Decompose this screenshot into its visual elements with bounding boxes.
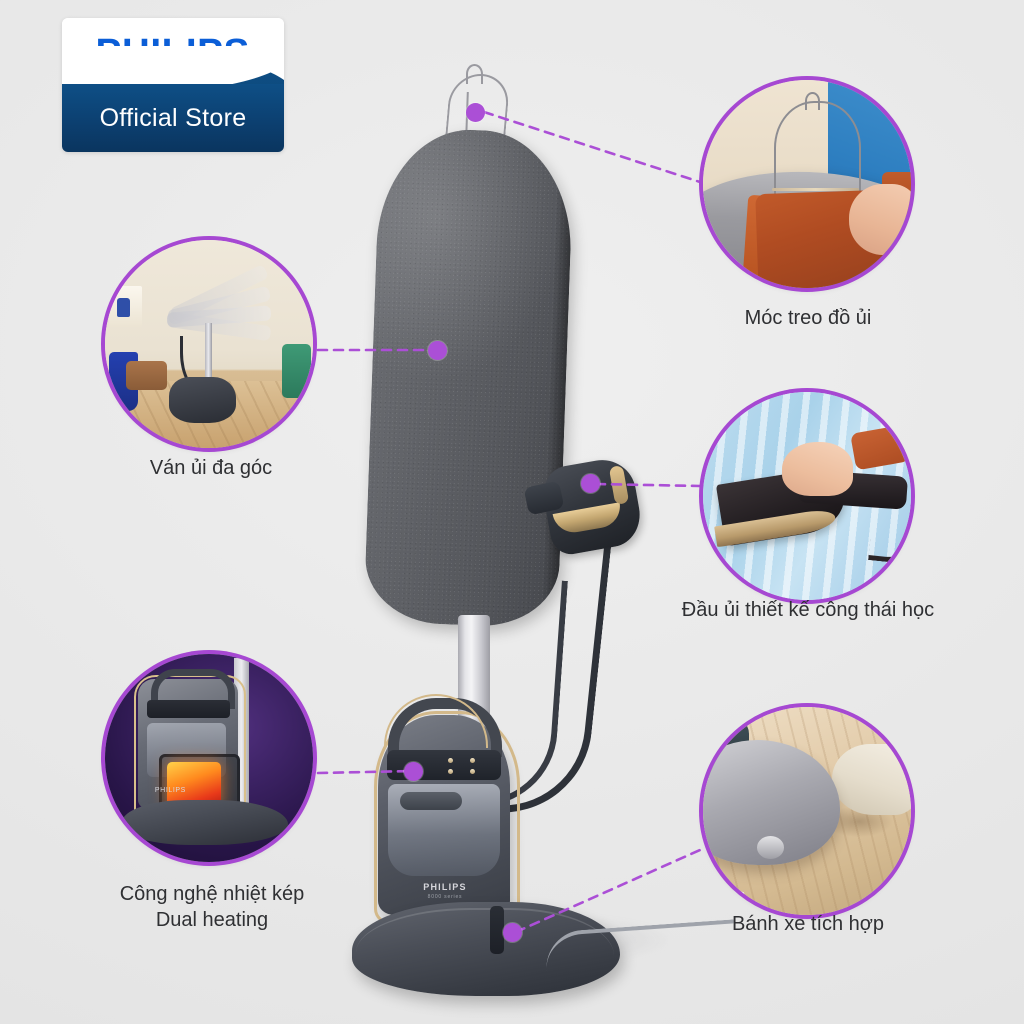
photo-green-chair: [282, 344, 311, 398]
photo-vase: [117, 298, 129, 317]
photo-base-plate: [122, 800, 288, 846]
photo-wheel-icon: [757, 836, 784, 859]
base-series-label: 8000 series: [400, 894, 490, 900]
photo-hose: [868, 502, 911, 566]
hotspot-dot-dual-heating[interactable]: [404, 762, 423, 781]
feature-circle-dual-heating[interactable]: PHILIPS: [105, 654, 313, 862]
hotspot-dot-steam-head[interactable]: [581, 474, 600, 493]
feature-circle-steam-head[interactable]: [703, 392, 911, 600]
multi-angle-board-photo: [105, 240, 313, 448]
infographic-canvas: PHILIPS Official Store: [0, 0, 1024, 1024]
logo-bottom-panel: Official Store: [62, 84, 284, 152]
caption-steam-head: Đầu ủi thiết kế công thái học: [628, 598, 988, 624]
photo-stool: [126, 361, 168, 390]
product-hero-image: PHILIPS 8000 series: [330, 70, 710, 970]
water-tank-grip: [400, 792, 462, 810]
feature-circle-wheels[interactable]: [703, 707, 911, 915]
control-button-3: [470, 758, 475, 763]
caption-multi-angle-board: Ván ủi đa góc: [72, 456, 350, 482]
photo-hand: [849, 184, 911, 255]
caption-wheels: Bánh xe tích hợp: [672, 912, 944, 938]
control-button-1: [448, 758, 453, 763]
feature-circle-hanger[interactable]: [703, 80, 911, 288]
control-button-4: [470, 769, 475, 774]
steam-head-photo: [703, 392, 911, 600]
hotspot-dot-hanger[interactable]: [466, 103, 485, 122]
hotspot-dot-wheels[interactable]: [503, 923, 522, 942]
caption-dual-heating-line1: Công nghệ nhiệt kép: [78, 882, 346, 908]
photo-hanger-hook-icon: [805, 92, 820, 110]
base-plate-slot: [490, 906, 504, 954]
photo-shoe: [832, 744, 911, 815]
wheels-photo: [703, 707, 911, 915]
photo-control-panel: [147, 700, 230, 719]
photo-hand: [782, 442, 853, 496]
hanger-hook-icon: [466, 64, 483, 84]
hotspot-dot-board[interactable]: [428, 341, 447, 360]
hanger-photo: [703, 80, 911, 288]
caption-hanger: Móc treo đồ ủi: [668, 306, 948, 332]
control-button-2: [448, 769, 453, 774]
official-store-label: Official Store: [100, 104, 247, 133]
photo-brand-label: PHILIPS: [155, 787, 186, 794]
photo-base-unit: [169, 377, 236, 423]
caption-dual-heating-line2: Dual heating: [78, 908, 346, 934]
dual-heating-photo: PHILIPS: [105, 654, 313, 862]
feature-circle-multi-angle-board[interactable]: [105, 240, 313, 448]
base-brand-label: PHILIPS: [400, 882, 490, 892]
caption-dual-heating: Công nghệ nhiệt kép Dual heating: [78, 882, 346, 933]
philips-official-store-logo: PHILIPS Official Store: [62, 18, 284, 152]
